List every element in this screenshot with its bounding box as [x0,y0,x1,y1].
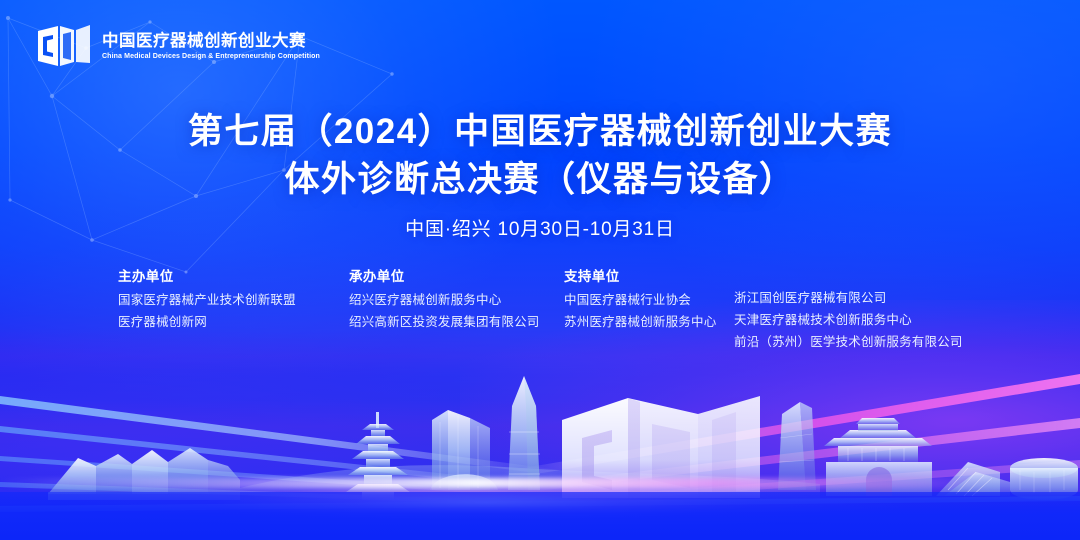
organizer-item: 天津医疗器械技术创新服务中心 [734,309,994,331]
organizer-item: 医疗器械创新网 [118,311,349,333]
lower-purple-field [0,330,1080,540]
landmark-great-wall [936,462,1010,496]
organizers-section: 主办单位 国家医疗器械产业技术创新联盟 医疗器械创新网 承办单位 绍兴医疗器械创… [118,266,998,353]
organizer-item: 前沿（苏州）医学技术创新服务有限公司 [734,331,994,353]
organizer-heading: 支持单位 [564,266,734,287]
organizer-column-undertaker: 承办单位 绍兴医疗器械创新服务中心 绍兴高新区投资发展集团有限公司 [349,266,564,333]
organizer-item: 中国医疗器械行业协会 [564,289,734,311]
logo-chinese-name: 中国医疗器械创新创业大赛 [102,33,324,50]
organizer-item: 绍兴医疗器械创新服务中心 [349,289,564,311]
organizer-heading: 承办单位 [349,266,564,287]
landmark-cmdc-logo-monument [562,396,760,498]
horizon-glow [0,468,1080,538]
ground-plane [0,492,1080,540]
event-location-date: 中国·绍兴 10月30日-10月31日 [0,216,1080,244]
organizer-item: 浙江国创医疗器械有限公司 [734,287,994,309]
landmark-skyscraper-twin [430,410,498,490]
event-poster: 中国医疗器械创新创业大赛 China Medical Devices Desig… [0,0,1080,540]
title-block: 第七届（2024）中国医疗器械创新创业大赛 体外诊断总决赛（仪器与设备） [0,108,1080,204]
organizer-heading: 主办单位 [118,266,349,287]
organizer-column-supporter: 支持单位 中国医疗器械行业协会 苏州医疗器械创新服务中心 [564,266,734,333]
purple-glow-left [0,330,520,540]
main-title-line-1: 第七届（2024）中国医疗器械创新创业大赛 [0,108,1080,156]
landmark-opera-house [48,448,240,500]
logo-text-block: 中国医疗器械创新创业大赛 China Medical Devices Desig… [102,33,324,59]
landmark-pagoda [346,412,410,500]
organizer-item: 苏州医疗器械创新服务中心 [564,311,734,333]
landmark-skyscraper-right [778,402,816,490]
city-skyline-illustration [0,362,1080,512]
landmark-skyscraper-tall [508,376,540,490]
landmark-chinese-gate-tower [824,418,932,496]
competition-logo: 中国医疗器械创新创业大赛 China Medical Devices Desig… [36,22,324,70]
landmark-round-stadium [1010,458,1078,500]
horizon-highlight-line [0,478,1080,488]
organizer-item: 国家医疗器械产业技术创新联盟 [118,289,349,311]
main-title-line-2: 体外诊断总决赛（仪器与设备） [0,156,1080,204]
organizer-item: 绍兴高新区投资发展集团有限公司 [349,311,564,333]
organizer-column-host: 主办单位 国家医疗器械产业技术创新联盟 医疗器械创新网 [118,266,349,333]
logo-english-name: China Medical Devices Design & Entrepren… [102,52,320,59]
cmdc-open-book-logo-icon [36,22,92,70]
organizer-column-supporter-extra: 浙江国创医疗器械有限公司 天津医疗器械技术创新服务中心 前沿（苏州）医学技术创新… [734,266,994,353]
